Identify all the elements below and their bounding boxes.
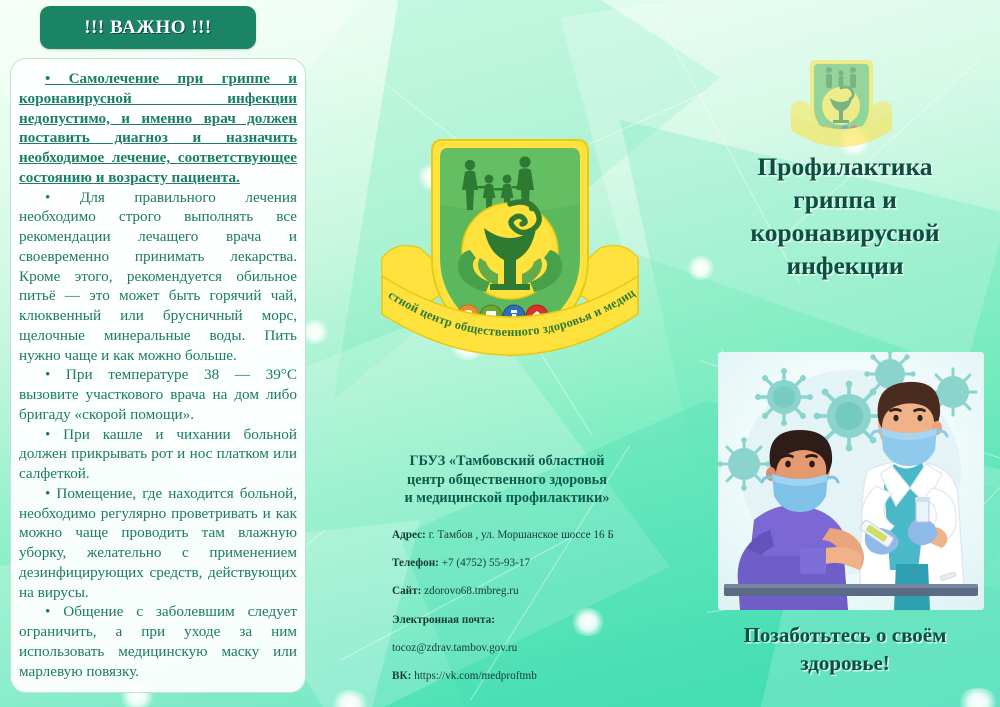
page-title-line: инфекции (700, 249, 990, 282)
tagline-line: Позаботьтесь о своём (700, 622, 990, 650)
corner-emblem (789, 48, 894, 153)
contact-value: +7 (4752) 55-93-17 (442, 557, 530, 569)
contact-row-website[interactable]: Сайт: zdorovo68.tmbreg.ru (392, 586, 672, 597)
recommendation-paragraph: • При температуре 38 — 39°С вызовите уча… (19, 365, 297, 424)
tagline: Позаботьтесь о своём здоровье! (700, 622, 990, 677)
recommendation-paragraph: • Общение с заболевшим следует ограничит… (19, 602, 297, 681)
organization-name-line: центр общественного здоровья (372, 471, 642, 490)
contact-value[interactable]: tocoz@zdrav.tambov.gov.ru (392, 642, 517, 654)
contact-label: Сайт: (392, 585, 421, 597)
contact-value[interactable]: zdorovo68.tmbreg.ru (424, 585, 518, 597)
vaccination-illustration-svg (718, 352, 984, 610)
vaccination-illustration (718, 352, 984, 610)
contact-row-email-value[interactable]: tocoz@zdrav.tambov.gov.ru (392, 643, 672, 654)
tagline-line: здоровье! (700, 650, 990, 678)
contact-value: г. Тамбов , ул. Моршанское шоссе 16 Б (429, 529, 614, 541)
contact-label: Адрес: (392, 529, 426, 541)
organization-name-line: и медицинской профилактики» (372, 489, 642, 508)
contact-label: ВК: (392, 670, 411, 682)
page-title: Профилактика гриппа и коронавирусной инф… (700, 150, 990, 283)
page-title-line: коронавирусной (700, 216, 990, 249)
important-badge: !!! ВАЖНО !!! (40, 6, 256, 49)
organization-emblem: ГБУЗ "Тамбовский областной центр обществ… (380, 108, 640, 373)
recommendation-paragraph: • Самолечение при гриппе и коронавирусно… (19, 69, 297, 188)
contact-list: Адрес: г. Тамбов , ул. Моршанское шоссе … (392, 530, 672, 699)
corner-emblem-svg (789, 48, 894, 153)
contact-row-phone: Телефон: +7 (4752) 55-93-17 (392, 558, 672, 569)
contact-row-vk[interactable]: ВК: https://vk.com/medproftmb (392, 671, 672, 682)
contact-row-email-label: Электронная почта: (392, 615, 672, 626)
bg-glow-dot (330, 690, 370, 707)
contact-value[interactable]: https://vk.com/medproftmb (414, 670, 537, 682)
brochure-page: !!! ВАЖНО !!! • Самолечение при гриппе и… (0, 0, 1000, 707)
contact-label: Телефон: (392, 557, 439, 569)
recommendation-paragraph: • При кашле и чихании больной должен при… (19, 425, 297, 484)
page-title-line: Профилактика (700, 150, 990, 183)
important-badge-label: !!! ВАЖНО !!! (84, 17, 212, 39)
recommendations-panel: • Самолечение при гриппе и коронавирусно… (10, 58, 306, 693)
contact-row-address: Адрес: г. Тамбов , ул. Моршанское шоссе … (392, 530, 672, 541)
contact-label: Электронная почта: (392, 614, 495, 626)
bg-glow-dot (956, 688, 1000, 707)
recommendation-paragraph: • Для правильного лечения необходимо стр… (19, 188, 297, 366)
emblem-svg: ГБУЗ "Тамбовский областной центр обществ… (380, 108, 640, 373)
organization-name: ГБУЗ «Тамбовский областной центр обществ… (372, 452, 642, 508)
organization-name-line: ГБУЗ «Тамбовский областной (372, 452, 642, 471)
recommendation-paragraph: • Помещение, где находится больной, необ… (19, 484, 297, 603)
page-title-line: гриппа и (700, 183, 990, 216)
